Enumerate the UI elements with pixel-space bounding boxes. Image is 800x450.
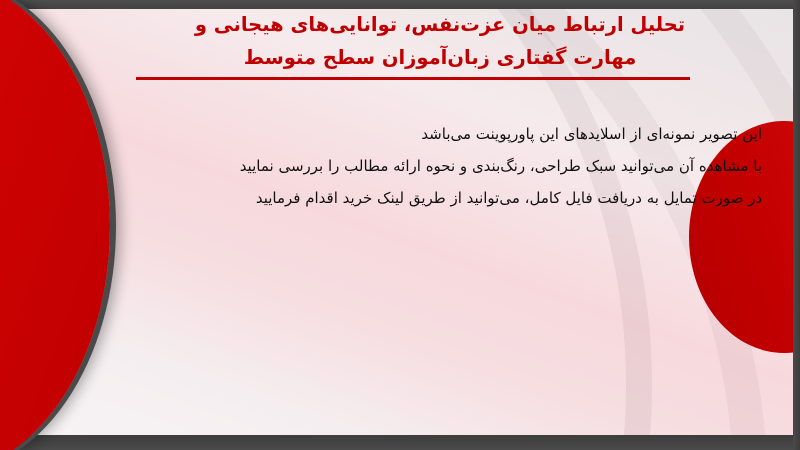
body-text-line-3: در صورت تمایل به دریافت فایل کامل، می‌تو… — [110, 182, 762, 214]
frame-bar-bottom — [0, 435, 800, 450]
title-underline-rule — [136, 77, 690, 80]
frame-bar-right — [793, 0, 800, 450]
slide-title-line-1: تحلیل ارتباط میان عزت‌نفس، توانایی‌های ه… — [96, 8, 784, 41]
slide-body-text: این تصویر نمونه‌ای از اسلایدهای این پاور… — [110, 118, 762, 214]
slide-title-line-2: مهارت گفتاری زبان‌آموزان سطح متوسط — [96, 41, 784, 74]
body-text-line-2: با مشاهده آن می‌توانید سبک طراحی، رنگ‌بن… — [110, 150, 762, 182]
slide-title: تحلیل ارتباط میان عزت‌نفس، توانایی‌های ه… — [96, 8, 784, 74]
body-text-line-1: این تصویر نمونه‌ای از اسلایدهای این پاور… — [110, 118, 762, 150]
presentation-slide: تحلیل ارتباط میان عزت‌نفس، توانایی‌های ه… — [0, 0, 800, 450]
